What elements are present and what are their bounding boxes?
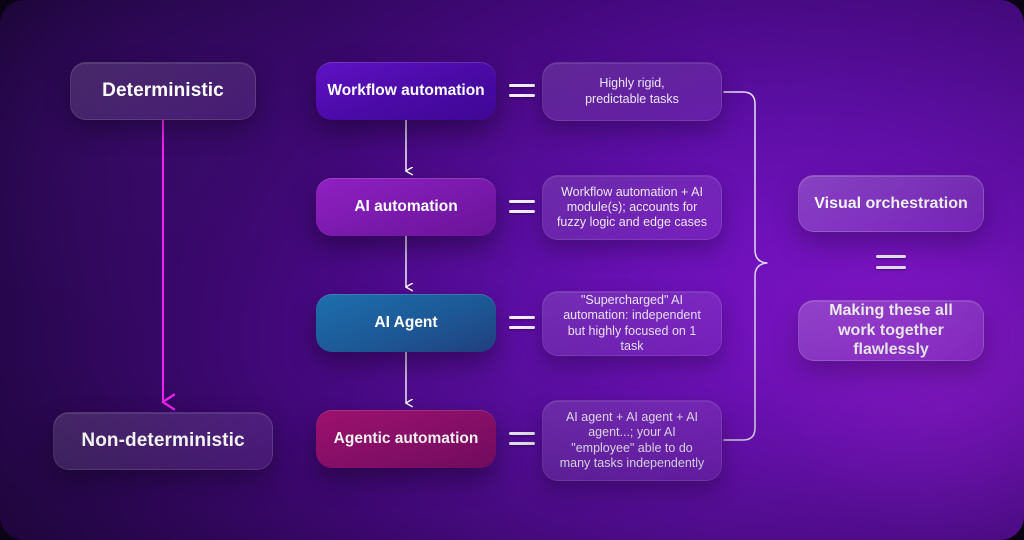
stage-box-deterministic[interactable]: Deterministic [70, 62, 256, 120]
result-making-these-work[interactable]: Making these all work together flawlessl… [798, 300, 984, 361]
chip-ai-agent[interactable]: AI Agent [316, 294, 496, 352]
equals-icon-row-2 [509, 200, 535, 213]
description-workflow-automation: Highly rigid, predictable tasks [542, 62, 722, 121]
stage-box-non-deterministic-label: Non-deterministic [81, 429, 244, 452]
description-workflow-automation-text: Highly rigid, predictable tasks [585, 76, 679, 107]
description-agentic-automation: AI agent + AI agent + AI agent...; your … [542, 400, 722, 481]
description-ai-agent-text: "Supercharged" AI automation: independen… [555, 293, 709, 354]
result-making-these-work-label: Making these all work together flawlessl… [813, 301, 969, 360]
diagram-canvas: Deterministic Non-deterministic Workflow… [0, 0, 1024, 540]
result-visual-orchestration[interactable]: Visual orchestration [798, 175, 984, 232]
stage-box-non-deterministic[interactable]: Non-deterministic [53, 412, 273, 470]
stage-box-deterministic-label: Deterministic [102, 79, 224, 102]
chip-workflow-automation-label: Workflow automation [327, 82, 484, 101]
equals-icon-row-1 [509, 84, 535, 97]
chip-ai-agent-label: AI Agent [374, 314, 437, 333]
chip-agentic-automation[interactable]: Agentic automation [316, 410, 496, 468]
description-ai-agent: "Supercharged" AI automation: independen… [542, 291, 722, 356]
chip-ai-automation-label: AI automation [354, 198, 457, 217]
description-ai-automation-text: Workflow automation + AI module(s); acco… [555, 185, 709, 231]
curly-brace-connector [724, 92, 767, 440]
chip-workflow-automation[interactable]: Workflow automation [316, 62, 496, 120]
result-visual-orchestration-label: Visual orchestration [814, 194, 968, 214]
description-agentic-automation-text: AI agent + AI agent + AI agent...; your … [555, 410, 709, 471]
equals-icon-row-3 [509, 316, 535, 329]
chip-ai-automation[interactable]: AI automation [316, 178, 496, 236]
chip-agentic-automation-label: Agentic automation [334, 430, 479, 449]
equals-icon-row-4 [509, 432, 535, 445]
description-ai-automation: Workflow automation + AI module(s); acco… [542, 175, 722, 240]
equals-icon-result [876, 255, 906, 269]
